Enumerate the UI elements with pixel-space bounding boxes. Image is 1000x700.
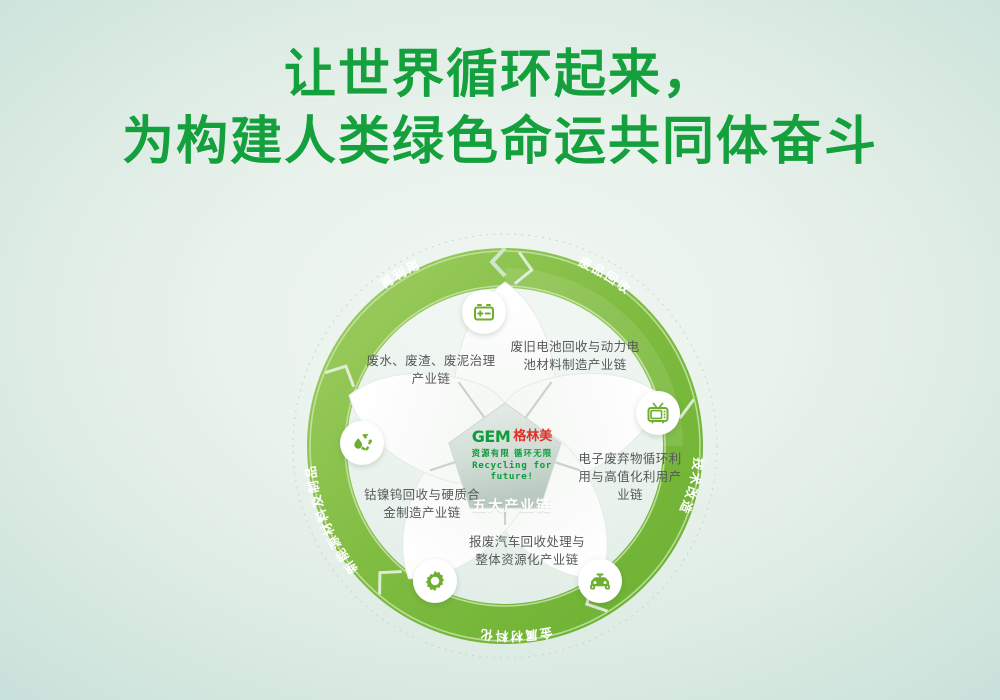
chain-label-water-slag-sludge: 废水、废渣、废泥治理产业链 [366,352,496,388]
chain-label-e-waste: 电子废弃物循环利用与高值化利用产业链 [576,450,684,503]
page-title-line-1: 让世界循环起来， [0,42,1000,109]
gem-slogan-en: Recycling for future! [448,460,576,482]
water-recycle-icon [350,431,375,456]
battery-icon [472,300,496,324]
gem-logo: GEM 格林美 资源有限 循环无限 Recycling for future! … [448,424,576,516]
gear-icon [423,569,447,593]
chain-label-battery: 废旧电池回收与动力电池材料制造产业链 [505,338,645,374]
car-icon [588,569,612,593]
gem-logo-row: GEM 格林美 [448,428,576,445]
poster-stage: 让世界循环起来， 为构建人类绿色命运共同体奋斗 [0,0,1000,700]
water-recycle-icon-bubble[interactable] [340,421,384,465]
battery-icon-bubble[interactable] [462,290,506,334]
car-icon-bubble[interactable] [578,559,622,603]
gem-brand-latin: GEM [472,429,510,445]
center-subtitle: 五大产业链 [448,495,576,516]
tv-icon-bubble[interactable] [636,391,680,435]
gem-brand-cn: 格林美 [513,430,552,443]
page-title-line-2: 为构建人类绿色命运共同体奋斗 [0,109,1000,176]
page-title: 让世界循环起来， 为构建人类绿色命运共同体奋斗 [0,42,1000,175]
tv-icon [646,401,670,425]
gear-icon-bubble[interactable] [413,559,457,603]
chain-label-scrap-car: 报废汽车回收处理与整体资源化产业链 [468,533,586,569]
gem-slogan-cn: 资源有限 循环无限 [448,447,576,459]
